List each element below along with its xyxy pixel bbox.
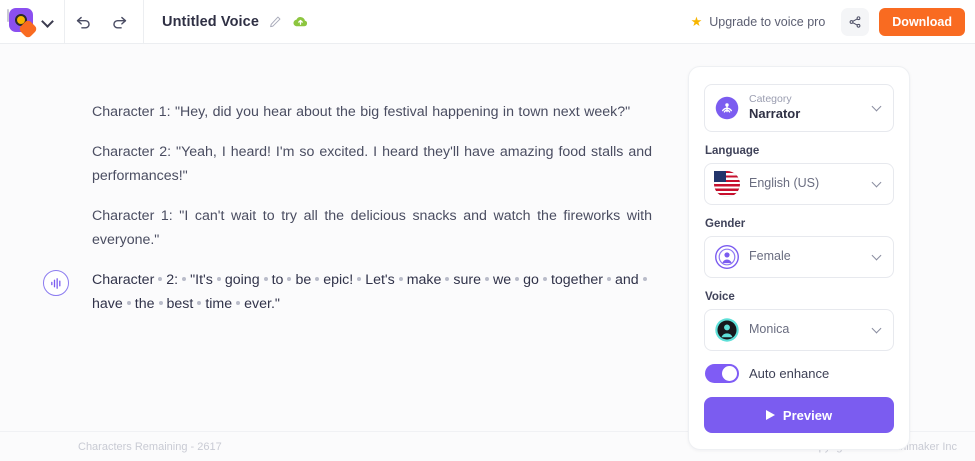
document-title-area: Untitled Voice xyxy=(144,12,310,31)
workspace: Character 1: "Hey, did you hear about th… xyxy=(0,44,975,431)
word-separator-dot xyxy=(182,277,186,281)
voice-avatar-icon xyxy=(714,317,740,343)
word-separator-dot xyxy=(315,277,319,281)
animaker-logo-icon[interactable] xyxy=(6,7,36,37)
redo-icon xyxy=(110,12,129,31)
upgrade-label: Upgrade to voice pro xyxy=(709,15,825,29)
paragraph-text: Character 1: "I can't wait to try all th… xyxy=(92,208,652,248)
paragraph-text: Character 2: "Yeah, I heard! I'm so exci… xyxy=(92,144,652,184)
pencil-edit-icon[interactable] xyxy=(268,15,282,29)
chevron-down-icon[interactable] xyxy=(873,325,883,335)
undo-icon xyxy=(74,12,93,31)
category-caption: Category xyxy=(749,93,864,106)
audio-waveform-icon[interactable] xyxy=(43,270,69,296)
gender-value: Female xyxy=(749,249,864,265)
voice-label: Voice xyxy=(705,291,894,303)
word-separator-dot xyxy=(287,277,291,281)
voice-settings-panel: Category Narrator Language English (US) … xyxy=(688,66,910,450)
share-icon xyxy=(848,15,862,29)
word-separator-dot xyxy=(264,277,268,281)
word-separator-dot xyxy=(445,277,449,281)
word-separator-dot xyxy=(399,277,403,281)
play-icon xyxy=(766,410,775,420)
auto-enhance-row: Auto enhance xyxy=(705,364,894,383)
us-flag-icon xyxy=(714,171,740,197)
word-separator-dot xyxy=(643,277,647,281)
script-paragraph[interactable]: Character 1: "Hey, did you hear about th… xyxy=(92,100,652,124)
page-title: Untitled Voice xyxy=(162,14,259,30)
logo-menu-button[interactable] xyxy=(0,0,65,43)
language-label: Language xyxy=(705,145,894,157)
upgrade-to-voice-pro-button[interactable]: ★ Upgrade to voice pro xyxy=(691,15,830,29)
word-separator-dot xyxy=(485,277,489,281)
script-paragraph-active[interactable]: Character2:"It'sgoingtobeepic!Let'smakes… xyxy=(92,268,652,316)
cloud-saved-icon xyxy=(291,12,310,31)
voice-select[interactable]: Monica xyxy=(704,309,894,351)
word-separator-dot xyxy=(217,277,221,281)
preview-button[interactable]: Preview xyxy=(704,397,894,433)
language-value: English (US) xyxy=(749,176,864,192)
redo-button[interactable] xyxy=(101,0,137,44)
word-separator-dot xyxy=(158,277,162,281)
share-button[interactable] xyxy=(841,8,869,36)
history-controls xyxy=(65,0,144,43)
word-separator-dot xyxy=(159,301,163,305)
language-select[interactable]: English (US) xyxy=(704,163,894,205)
gender-label: Gender xyxy=(705,218,894,230)
auto-enhance-label: Auto enhance xyxy=(749,366,829,381)
paragraph-text: Character 1: "Hey, did you hear about th… xyxy=(92,104,630,120)
script-text-area[interactable]: Character 1: "Hey, did you hear about th… xyxy=(92,100,652,316)
undo-button[interactable] xyxy=(65,0,101,44)
paragraph-text-dotted: Character2:"It'sgoingtobeepic!Let'smakes… xyxy=(92,272,651,312)
category-value: Narrator xyxy=(749,106,864,122)
word-separator-dot xyxy=(127,301,131,305)
word-separator-dot xyxy=(543,277,547,281)
chevron-down-icon[interactable] xyxy=(873,179,883,189)
word-separator-dot xyxy=(607,277,611,281)
chevron-down-icon[interactable] xyxy=(873,103,883,113)
word-separator-dot xyxy=(197,301,201,305)
voice-editor-app: Untitled Voice ★ Upgrade to voice pro xyxy=(0,0,975,461)
female-avatar-icon xyxy=(714,244,740,270)
script-paragraph[interactable]: Character 1: "I can't wait to try all th… xyxy=(92,204,652,252)
podcast-microphone-icon xyxy=(714,95,740,121)
top-toolbar: Untitled Voice ★ Upgrade to voice pro xyxy=(0,0,975,44)
word-separator-dot xyxy=(515,277,519,281)
gender-select[interactable]: Female xyxy=(704,236,894,278)
chevron-down-icon[interactable] xyxy=(42,16,54,28)
star-icon: ★ xyxy=(691,15,703,28)
voice-value: Monica xyxy=(749,322,864,338)
preview-label: Preview xyxy=(783,408,832,423)
auto-enhance-toggle[interactable] xyxy=(705,364,739,383)
chevron-down-icon[interactable] xyxy=(873,252,883,262)
category-select[interactable]: Category Narrator xyxy=(704,84,894,132)
word-separator-dot xyxy=(357,277,361,281)
download-button[interactable]: Download xyxy=(879,8,965,36)
characters-remaining-label: Characters Remaining - 2617 xyxy=(78,441,222,453)
script-paragraph[interactable]: Character 2: "Yeah, I heard! I'm so exci… xyxy=(92,140,652,188)
word-separator-dot xyxy=(236,301,240,305)
